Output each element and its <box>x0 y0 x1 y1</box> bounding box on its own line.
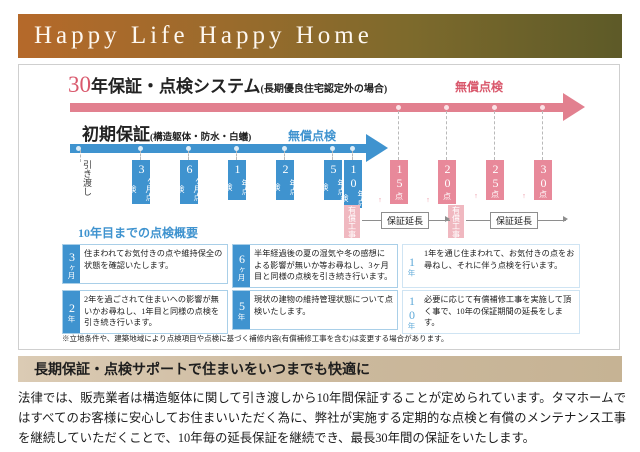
timeline-dot-5 <box>330 146 335 151</box>
inspection-key-unit: 年 <box>235 313 248 321</box>
inspection-row-text: 2年を過ごされて住まいへの影響が無いかお尋ねし、1年目と同様の点検を引き続き行い… <box>80 291 227 333</box>
inspection-row-text: 半年経過後の夏の湿気や冬の感想による影響が無いか等お尋ねし、3ヶ月目と同様の点検… <box>250 245 397 287</box>
inspection-row-text: 1年を通じ住まわれて、お気付きの点をお尋ねし、それに伴う点検を行います。 <box>420 245 579 287</box>
dropper-1 <box>236 150 237 160</box>
extension-label-1: 保証延長 <box>381 212 429 229</box>
dropper-handover <box>80 150 81 162</box>
table-note: ※立地条件や、建築地域により点検項目や点検に基づく補修内容(有償補修工事を含む)… <box>62 333 448 344</box>
milestone-unit: 年点検 <box>336 190 370 206</box>
dropper-6 <box>188 150 189 160</box>
timeline-dot-30 <box>540 105 545 110</box>
milestone-unit: 年点検 <box>268 176 302 198</box>
timeline-dot-15 <box>396 105 401 110</box>
milestone-unit: ヶ月点検 <box>124 176 158 202</box>
blue-timeline-arrow <box>70 144 370 153</box>
milestone-box-20: 20年点検 <box>438 160 456 204</box>
milestone-number: 15 <box>391 162 408 190</box>
inspection-row-text: 必要に応じて有償補修工事を実施して頂く事で、10年の保証期間の延長をします。 <box>420 291 579 333</box>
dropper-25 <box>494 111 495 160</box>
page-title: Happy Life Happy Home <box>18 22 373 50</box>
system-title: 30年保証・点検システム(長期優良住宅認定外の場合) <box>68 72 387 98</box>
dropper-20 <box>446 111 447 160</box>
handover-label: 引き渡し <box>78 160 94 196</box>
inspection-key-number: 1 <box>405 255 418 269</box>
inspection-row-key: 6ヶ月 <box>233 245 250 287</box>
extension-arrow-2-icon <box>563 216 568 222</box>
pink-arrow-head-icon <box>563 93 585 121</box>
support-band-title: 長期保証・点検サポートで住まいをいつまでも快適に <box>18 359 370 379</box>
dropper-3 <box>140 150 141 160</box>
uplink-arrow-icon-25: ↑ <box>472 192 479 200</box>
timeline-dot-20 <box>444 105 449 110</box>
inspection-key-unit: 年 <box>405 269 418 277</box>
inspection-key-number: 2 <box>65 301 78 315</box>
milestone-number: 1 <box>229 162 246 176</box>
inspection-key-number: 5 <box>235 299 248 313</box>
milestone-number: 5 <box>325 162 342 176</box>
blue-arrow-head-icon <box>366 134 388 162</box>
system-title-sub: (長期優良住宅認定外の場合) <box>261 84 388 95</box>
initial-warranty-main: 初期保証 <box>82 125 150 144</box>
system-title-number: 30 <box>68 72 91 97</box>
inspection-key-unit: ヶ月 <box>65 264 78 279</box>
inspection-row: 2年2年を過ごされて住まいへの影響が無いかお尋ねし、1年目と同様の点検を引き続き… <box>62 290 228 334</box>
inspection-row: 3ヶ月住まわれてお気付きの点や維持保全の状態を確認いたします。 <box>62 244 228 284</box>
inspection-key-number: 10 <box>405 294 418 322</box>
initial-warranty-sub: (構造躯体・防水・白蟻) <box>150 133 251 143</box>
inspection-key-number: 3 <box>65 250 78 264</box>
milestone-box-30: 30年点検 <box>534 160 552 200</box>
paid-work-box-1: 有償工事 <box>344 205 360 238</box>
initial-warranty-title: 初期保証(構造躯体・防水・白蟻) <box>82 120 251 145</box>
timeline-dot-1 <box>234 146 239 151</box>
inspection-row-text: 現状の建物の維持管理状態について点検いたします。 <box>250 291 397 329</box>
extension-arrow-1-icon <box>445 216 450 222</box>
inspection-row-text: 住まわれてお気付きの点や維持保全の状態を確認いたします。 <box>80 245 227 283</box>
milestone-box-10: 10年点検 <box>344 160 362 208</box>
timeline-dot-start <box>76 146 81 151</box>
milestone-number: 6 <box>181 162 198 176</box>
milestone-box-1: 1年点検 <box>228 160 246 200</box>
inspection-key-unit: 年 <box>65 315 78 323</box>
timeline-dot-25 <box>492 105 497 110</box>
uplink-arrow-icon-20: ↑ <box>424 196 431 204</box>
inspection-key-unit: ヶ月 <box>235 266 248 281</box>
system-title-main: 年保証・点検システム <box>91 77 261 96</box>
extension-label-2: 保証延長 <box>490 212 538 229</box>
dropper-5 <box>332 150 333 160</box>
inspection-key-number: 6 <box>235 252 248 266</box>
timeline-dot-3 <box>138 146 143 151</box>
milestone-box-2: 2年点検 <box>276 160 294 200</box>
timeline-dot-10 <box>350 146 355 151</box>
dropper-10 <box>352 150 353 160</box>
inspection-row: 5年現状の建物の維持管理状態について点検いたします。 <box>232 290 398 330</box>
inspection-row-key: 1年 <box>403 245 420 287</box>
milestone-unit: 年点検 <box>220 176 254 198</box>
uplink-arrow-icon-30: ↑ <box>520 192 527 200</box>
dropper-15 <box>398 111 399 160</box>
milestone-number: 30 <box>535 162 552 190</box>
uplink-arrow-icon-15: ↑ <box>376 196 383 204</box>
inspection-row-key: 2年 <box>63 291 80 333</box>
milestone-box-15: 15年点検 <box>390 160 408 204</box>
timeline-dot-2 <box>282 146 287 151</box>
milestone-number: 3 <box>133 162 150 176</box>
inspection-row-key: 10年 <box>403 291 420 333</box>
inspection-key-unit: 年 <box>405 322 418 330</box>
milestone-number: 2 <box>277 162 294 176</box>
table-title: 10年目までの点検概要 <box>78 224 198 241</box>
milestone-number: 10 <box>345 162 362 190</box>
milestone-box-3: 3ヶ月点検 <box>132 160 150 204</box>
body-copy: 法律では、販売業者は構造躯体に関して引き渡しから10年間保証することが定められて… <box>18 388 626 448</box>
milestone-box-6: 6ヶ月点検 <box>180 160 198 204</box>
timeline-dot-6 <box>186 146 191 151</box>
inspection-row-key: 3ヶ月 <box>63 245 80 283</box>
dropper-30 <box>542 111 543 160</box>
milestone-number: 20 <box>439 162 456 190</box>
inspection-row-key: 5年 <box>233 291 250 329</box>
inspection-row: 6ヶ月半年経過後の夏の湿気や冬の感想による影響が無いか等お尋ねし、3ヶ月目と同様… <box>232 244 398 288</box>
milestone-unit: ヶ月点検 <box>172 176 206 202</box>
inspection-row: 1年1年を通じ住まわれて、お気付きの点をお尋ねし、それに伴う点検を行います。 <box>402 244 580 288</box>
free-inspection-blue-label: 無償点検 <box>288 127 336 144</box>
support-band: 長期保証・点検サポートで住まいをいつまでも快適に <box>18 356 622 382</box>
header-band: Happy Life Happy Home <box>18 14 622 58</box>
inspection-row: 10年必要に応じて有償補修工事を実施して頂く事で、10年の保証期間の延長をします… <box>402 290 580 334</box>
milestone-number: 25 <box>487 162 504 190</box>
paid-work-box-2: 有償工事 <box>448 205 464 238</box>
milestone-box-25: 25年点検 <box>486 160 504 200</box>
free-inspection-pink-label: 無償点検 <box>455 78 503 95</box>
dropper-2 <box>284 150 285 160</box>
